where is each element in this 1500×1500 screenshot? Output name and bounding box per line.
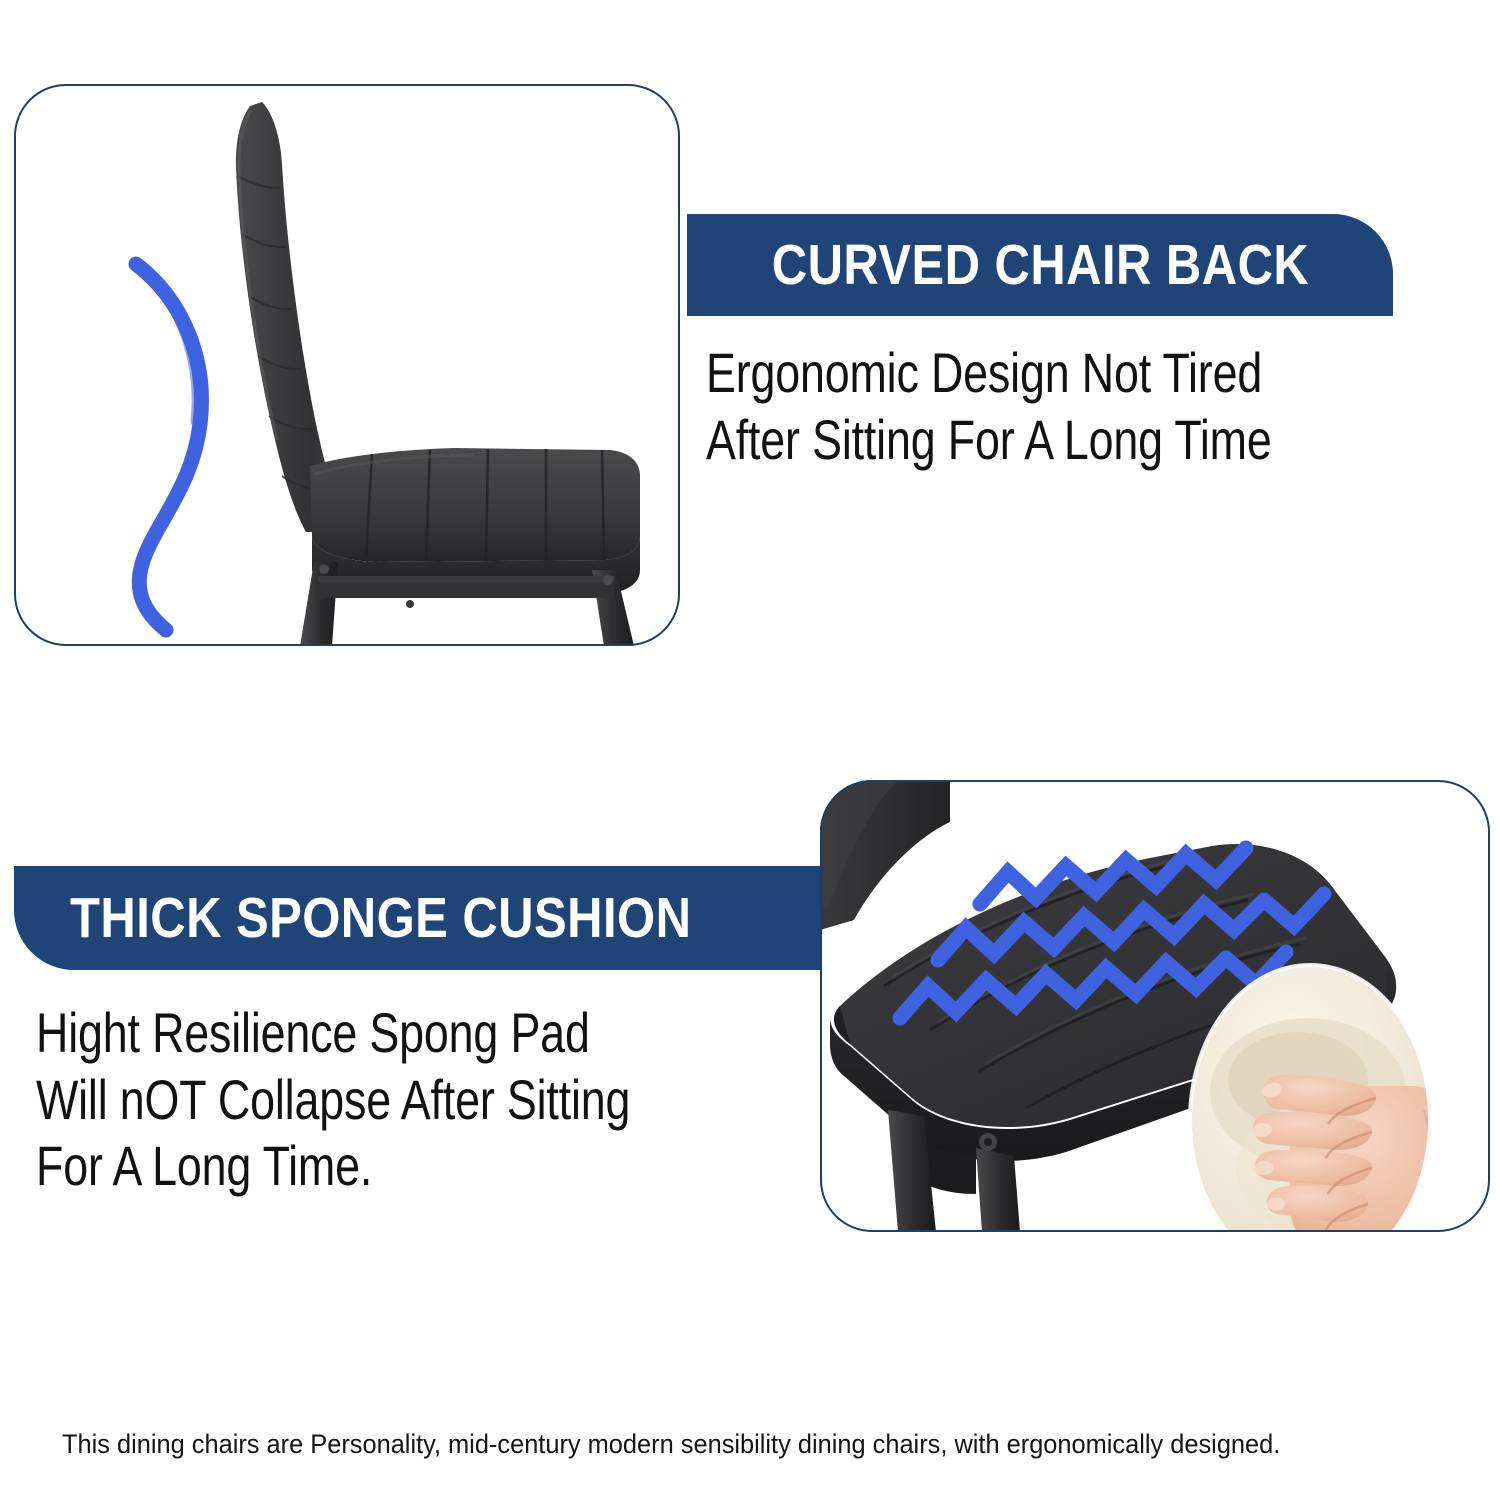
banner-thick-sponge-cushion: THICK SPONGE CUSHION	[14, 866, 820, 970]
copy-curved-chair-back: Ergonomic Design Not Tired After Sitting…	[706, 340, 1500, 473]
infographic-page: CURVED CHAIR BACK Ergonomic Design Not T…	[0, 0, 1500, 1500]
banner-curved-chair-back-label: CURVED CHAIR BACK	[771, 232, 1308, 298]
cushion-closeup-panel-border	[820, 780, 1490, 1232]
chair-profile-panel-border	[14, 84, 680, 646]
footer-description: This dining chairs are Personality, mid-…	[62, 1429, 1369, 1460]
copy-thick-sponge-cushion: Hight Resilience Spong Pad Will nOT Coll…	[36, 1000, 852, 1200]
banner-curved-chair-back: CURVED CHAIR BACK	[687, 214, 1393, 316]
banner-thick-sponge-cushion-label: THICK SPONGE CUSHION	[70, 885, 691, 951]
